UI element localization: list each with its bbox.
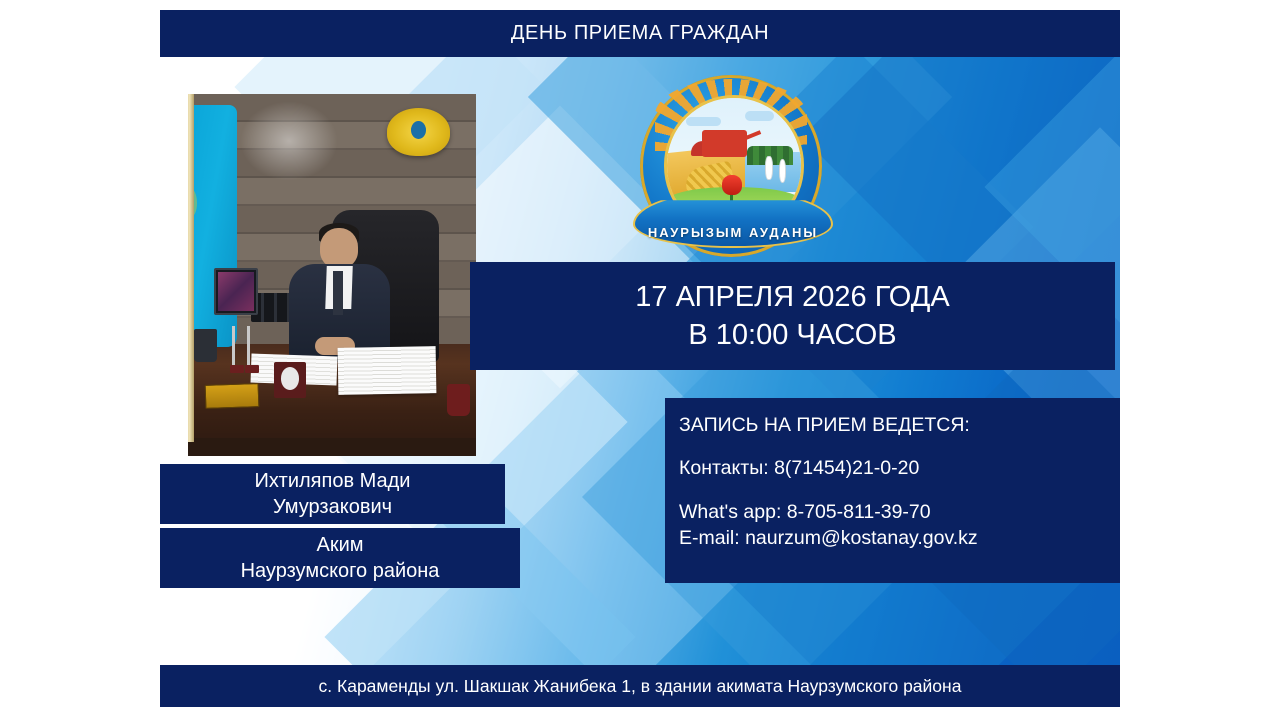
emblem-tulip-flower-icon [722,175,742,195]
emblem-crane-bird-icon [766,157,771,179]
poster-root: ДЕНЬ ПРИЕМА ГРАЖДАН [0,0,1280,720]
flag-pole [188,94,194,442]
contact-spacer [679,438,1120,455]
person-tie [333,271,342,314]
emblem-crane-bird-icon [780,160,785,182]
desk-award-plaque [274,362,306,398]
wall-light-glare [240,101,338,181]
reception-time-line: В 10:00 ЧАСОВ [688,316,896,354]
computer-monitor [214,268,258,315]
kazakhstan-state-emblem-icon [387,108,450,155]
desk-flag-stand [228,326,263,369]
reception-date-panel: 17 АПРЕЛЯ 2026 ГОДА В 10:00 ЧАСОВ [470,262,1115,370]
header-banner: ДЕНЬ ПРИЕМА ГРАЖДАН [160,10,1120,57]
paper-stack [337,347,436,396]
official-role-line-2: Наурзумского района [241,558,440,584]
contact-panel: ЗАПИСЬ НА ПРИЕМ ВЕДЕТСЯ: Контакты: 8(714… [665,398,1120,583]
footer-address: с. Караменды ул. Шакшак Жанибека 1, в зд… [319,676,962,697]
contact-phone[interactable]: Контакты: 8(71454)21-0-20 [679,455,1120,481]
contact-heading: ЗАПИСЬ НА ПРИЕМ ВЕДЕТСЯ: [679,412,1120,438]
official-role-line-1: Аким [316,532,363,558]
desk-nameplate [205,383,260,409]
reception-date-line: 17 АПРЕЛЯ 2026 ГОДА [635,278,949,316]
contact-email[interactable]: E-mail: naurzum@kostanay.gov.kz [679,525,1120,551]
emblem-combine-harvester-icon [702,130,748,157]
desk-front-panel [188,438,476,456]
header-title: ДЕНЬ ПРИЕМА ГРАЖДАН [511,22,769,45]
emblem-cloud-icon [686,117,721,126]
person-head [320,228,357,268]
official-photo-content [188,94,476,456]
district-coat-of-arms-icon: НАУРЫЗЫМ АУДАНЫ [640,75,822,257]
emblem-cloud-icon [745,111,775,120]
footer-banner: с. Караменды ул. Шакшак Жанибека 1, в зд… [160,665,1120,707]
contact-whatsapp[interactable]: What's app: 8-705-811-39-70 [679,499,1120,525]
official-role-panel: Аким Наурзумского района [160,528,520,588]
official-name-line-1: Ихтиляпов Мади [255,468,411,494]
pen-holder [194,329,217,362]
contact-spacer [679,482,1120,499]
official-photo [188,94,476,456]
official-name-line-2: Умурзакович [273,494,392,520]
desk-cup [447,384,470,417]
official-name-panel: Ихтиляпов Мади Умурзакович [160,464,505,524]
